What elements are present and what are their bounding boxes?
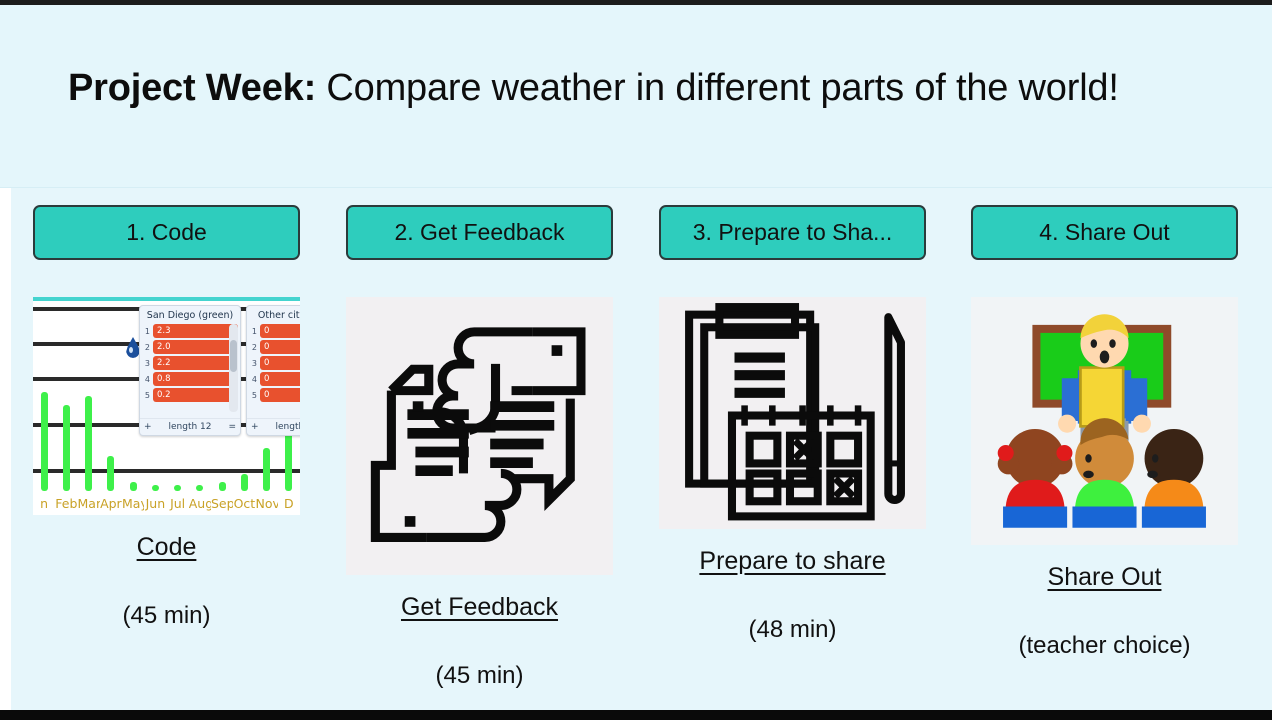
left-gutter xyxy=(0,188,11,710)
list-monitor-footer: + length 12 = xyxy=(247,418,300,435)
list-monitor-rows: 12.322.032.240.850.2 xyxy=(140,324,240,402)
slide-header: Project Week: Compare weather in differe… xyxy=(0,5,1272,188)
list-monitor-scrollbar[interactable] xyxy=(229,324,238,412)
card-prepare-to-share-duration: (48 min) xyxy=(748,616,836,644)
tab-step-3-prepare-to-share[interactable]: 3. Prepare to Sha... xyxy=(659,205,926,260)
chart-month-label: Mar xyxy=(78,496,100,511)
list-monitor-title: San Diego (green) xyxy=(140,308,240,324)
list-row-index: 1 xyxy=(249,327,257,336)
page-title-bold: Project Week: xyxy=(68,67,316,109)
list-row-value[interactable]: 0 xyxy=(260,372,300,386)
list-monitor-row[interactable]: 50.2 xyxy=(142,388,238,402)
list-row-index: 4 xyxy=(249,375,257,384)
bottom-edge-bar xyxy=(0,710,1272,720)
chart-month-label: May xyxy=(122,496,144,511)
list-row-value[interactable]: 0.2 xyxy=(153,388,238,402)
page-title-rest: Compare weather in different parts of th… xyxy=(316,67,1119,109)
list-row-value[interactable]: 0 xyxy=(260,356,300,370)
list-row-index: 2 xyxy=(249,343,257,352)
list-monitor-row[interactable]: 40.8 xyxy=(142,372,238,386)
slide-canvas: Project Week: Compare weather in differe… xyxy=(0,0,1272,720)
step-tab-bar: 1. Code 2. Get Feedback 3. Prepare to Sh… xyxy=(0,205,1272,261)
chart-month-label: Oct xyxy=(233,496,255,511)
tab-step-2-get-feedback[interactable]: 2. Get Feedback xyxy=(346,205,613,260)
list-monitor-footer: + length 12 = xyxy=(140,418,240,435)
chart-month-label: D xyxy=(278,496,300,511)
list-monitor-row[interactable]: 10 xyxy=(249,324,300,338)
list-add-item-button[interactable]: + xyxy=(251,422,259,432)
card-get-feedback-duration: (45 min) xyxy=(435,662,523,690)
tab-step-4-share-out[interactable]: 4. Share Out xyxy=(971,205,1238,260)
scratch-list-monitor-san-diego[interactable]: San Diego (green) 12.322.032.240.850.2 +… xyxy=(139,305,241,436)
chart-month-label: Jul xyxy=(167,496,189,511)
chart-bar xyxy=(219,482,226,491)
list-resize-handle[interactable]: = xyxy=(228,422,236,432)
chart-month-label: Apr xyxy=(100,496,122,511)
list-monitor-title: Other city (blue) xyxy=(247,308,300,324)
card-prepare-to-share: Prepare to share (48 min) xyxy=(659,297,926,644)
tab-step-4-label: 4. Share Out xyxy=(1039,219,1169,246)
list-monitor-row[interactable]: 50 xyxy=(249,388,300,402)
chart-month-label: n xyxy=(33,496,55,511)
card-share-out-caption-link[interactable]: Share Out xyxy=(1048,563,1162,592)
tab-step-3-label: 3. Prepare to Sha... xyxy=(693,219,892,246)
list-row-value[interactable]: 0 xyxy=(260,340,300,354)
list-monitor-row[interactable]: 32.2 xyxy=(142,356,238,370)
chart-bar xyxy=(107,456,114,491)
chart-bar xyxy=(130,482,137,491)
list-row-value[interactable]: 0 xyxy=(260,324,300,338)
weather-bar-chart: nFebMarAprMayJunJulAugSepOctNovD San Die… xyxy=(33,297,300,515)
raindrop-sprite-icon xyxy=(126,337,140,358)
chart-month-label: Feb xyxy=(55,496,77,511)
list-row-value[interactable]: 0.8 xyxy=(153,372,238,386)
list-monitor-rows: 1020304050 xyxy=(247,324,300,402)
chart-bar xyxy=(263,448,270,491)
scratch-weather-chart-thumbnail[interactable]: nFebMarAprMayJunJulAugSepOctNovD San Die… xyxy=(33,297,300,515)
chart-x-axis-labels: nFebMarAprMayJunJulAugSepOctNovD xyxy=(33,491,300,515)
list-add-item-button[interactable]: + xyxy=(144,422,152,432)
card-code: nFebMarAprMayJunJulAugSepOctNovD San Die… xyxy=(33,297,300,630)
tab-step-1-code[interactable]: 1. Code xyxy=(33,205,300,260)
classroom-presentation-thumbnail[interactable] xyxy=(971,297,1238,545)
card-share-out: Share Out (teacher choice) xyxy=(971,297,1238,660)
chart-bar xyxy=(241,474,248,491)
chart-top-border xyxy=(33,297,300,301)
list-row-value[interactable]: 0 xyxy=(260,388,300,402)
list-row-index: 5 xyxy=(142,391,150,400)
chart-bar xyxy=(85,396,92,491)
list-monitor-row[interactable]: 12.3 xyxy=(142,324,238,338)
chart-bar xyxy=(63,405,70,491)
card-get-feedback: Get Feedback (45 min) xyxy=(346,297,613,690)
card-share-out-duration: (teacher choice) xyxy=(1018,632,1190,660)
list-monitor-row[interactable]: 30 xyxy=(249,356,300,370)
scratch-list-monitor-other-city[interactable]: Other city (blue) 1020304050 + length 12… xyxy=(246,305,300,436)
list-monitor-row[interactable]: 40 xyxy=(249,372,300,386)
chart-month-label: Aug xyxy=(189,496,211,511)
chart-month-label: Sep xyxy=(211,496,233,511)
list-row-index: 5 xyxy=(249,391,257,400)
clipboard-calendar-thumbnail[interactable] xyxy=(659,297,926,529)
list-row-value[interactable]: 2.2 xyxy=(153,356,238,370)
tab-step-2-label: 2. Get Feedback xyxy=(394,219,564,246)
list-row-index: 3 xyxy=(249,359,257,368)
feedback-hands-thumbnail[interactable] xyxy=(346,297,613,575)
list-row-index: 1 xyxy=(142,327,150,336)
page-title: Project Week: Compare weather in differe… xyxy=(68,67,1119,110)
list-length-label: length 12 xyxy=(152,422,229,432)
list-monitor-row[interactable]: 20 xyxy=(249,340,300,354)
chart-month-label: Nov xyxy=(256,496,278,511)
thumbs-up-down-feedback-icon xyxy=(346,297,613,575)
card-get-feedback-caption-link[interactable]: Get Feedback xyxy=(401,593,558,622)
chart-month-label: Jun xyxy=(144,496,166,511)
chart-bar xyxy=(41,392,48,491)
card-code-caption-link[interactable]: Code xyxy=(137,533,197,562)
card-code-duration: (45 min) xyxy=(122,602,210,630)
list-row-index: 2 xyxy=(142,343,150,352)
list-monitor-row[interactable]: 22.0 xyxy=(142,340,238,354)
clipboard-calendar-pencil-icon xyxy=(659,297,926,529)
list-row-value[interactable]: 2.3 xyxy=(153,324,238,338)
list-row-index: 3 xyxy=(142,359,150,368)
list-row-index: 4 xyxy=(142,375,150,384)
list-row-value[interactable]: 2.0 xyxy=(153,340,238,354)
tab-step-1-label: 1. Code xyxy=(126,219,207,246)
card-prepare-to-share-caption-link[interactable]: Prepare to share xyxy=(699,547,885,576)
list-length-label: length 12 xyxy=(259,422,300,432)
classroom-presentation-clipart xyxy=(971,297,1238,545)
